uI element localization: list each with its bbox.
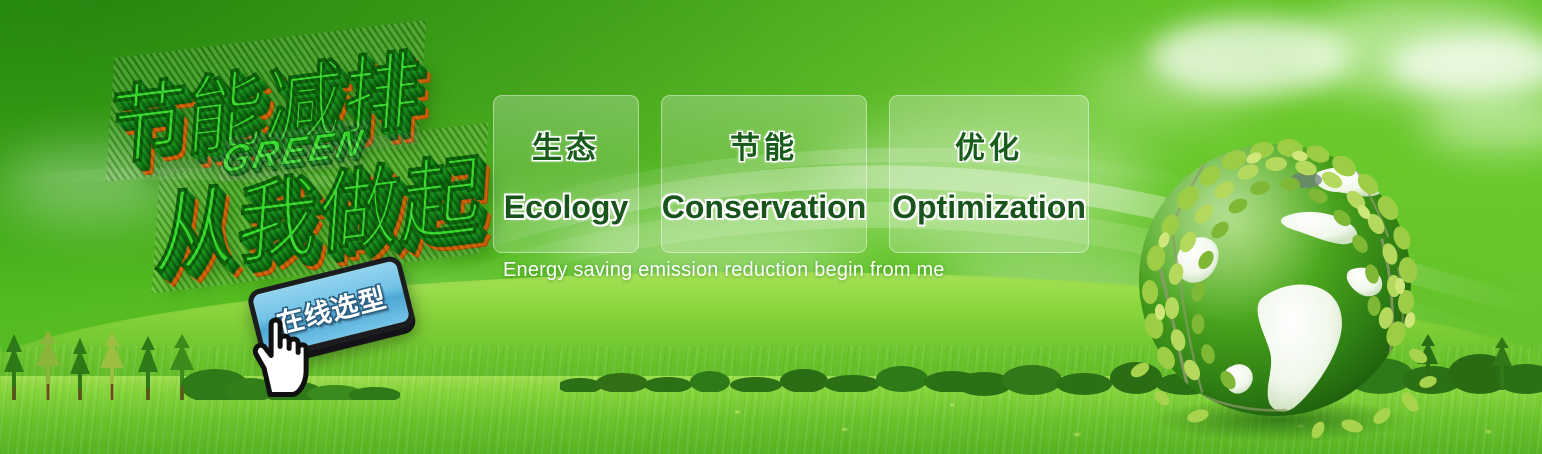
leaf-globe-illustration: [1110, 120, 1440, 450]
tree-line-middle: [560, 356, 980, 392]
feature-card-en-label: Conservation: [662, 189, 866, 226]
bush-icon: [824, 375, 880, 392]
eco-promo-banner: 节能减排 GREEN 从我做起 在线选型 生态 Ecology 节能 Conse…: [0, 0, 1542, 454]
feature-card-optimization[interactable]: 优化 Optimization: [889, 95, 1089, 253]
tagline-text: Energy saving emission reduction begin f…: [503, 259, 945, 282]
feature-card-cn-label: 节能: [730, 123, 798, 167]
feature-card-en-label: Optimization: [892, 189, 1086, 226]
feature-card-cn-label: 优化: [955, 123, 1023, 167]
bush-icon: [1002, 365, 1062, 395]
feature-card-ecology[interactable]: 生态 Ecology: [493, 95, 639, 253]
feature-card-cn-label: 生态: [532, 123, 600, 167]
bush-icon: [690, 371, 730, 392]
bush-icon: [596, 373, 648, 392]
bush-icon: [1056, 373, 1112, 395]
bush-icon: [780, 369, 828, 392]
bush-icon: [560, 378, 602, 392]
hand-pointer-icon: [248, 313, 322, 399]
bush-icon: [730, 377, 782, 392]
cloud-icon: [1080, 60, 1250, 118]
bush-icon: [876, 366, 928, 392]
bush-icon: [644, 377, 692, 392]
feature-card-conservation[interactable]: 节能 Conservation: [661, 95, 867, 253]
leaf-covered-globe-icon: [1110, 120, 1440, 450]
headline-3d-artwork: 节能减排 GREEN 从我做起: [100, 38, 500, 278]
feature-card-list: 生态 Ecology 节能 Conservation 优化 Optimizati…: [493, 95, 1089, 253]
feature-card-en-label: Ecology: [504, 189, 628, 226]
